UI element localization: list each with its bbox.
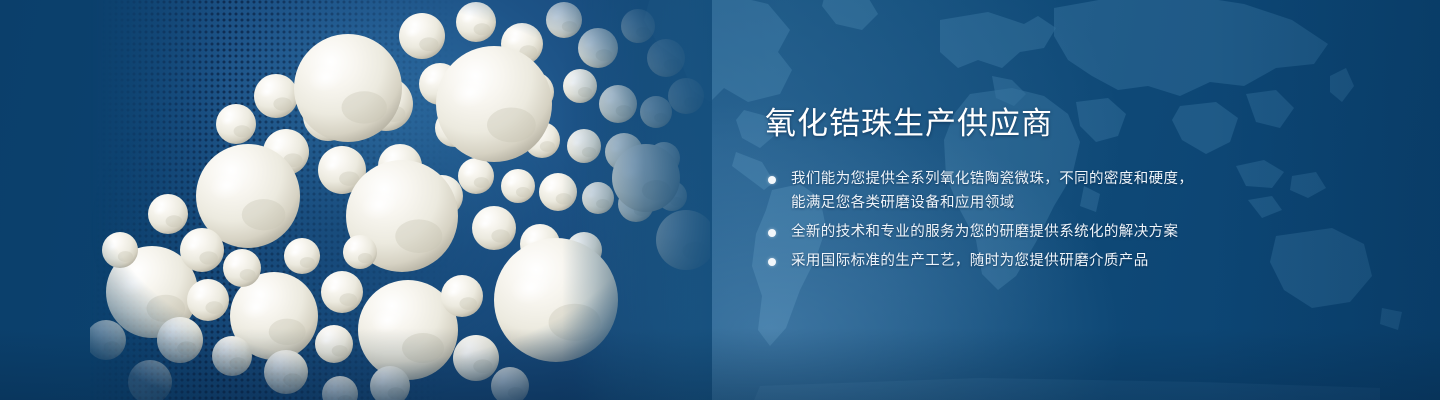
hero-banner: 氧化锆珠生产供应商 我们能为您提供全系列氧化锆陶瓷微珠，不同的密度和硬度， 能满… (0, 0, 1440, 400)
zirconia-beads-photo (90, 0, 710, 400)
list-item: 我们能为您提供全系列氧化锆陶瓷微珠，不同的密度和硬度， 能满足您各类研磨设备和应… (765, 168, 1285, 215)
bullet-dot-icon (768, 258, 776, 266)
bullet-dot-icon (768, 229, 776, 237)
bullet-dot-icon (768, 176, 776, 184)
list-item-line: 全新的技术和专业的服务为您的研磨提供系统化的解决方案 (791, 221, 1285, 244)
list-item: 全新的技术和专业的服务为您的研磨提供系统化的解决方案 (765, 221, 1285, 244)
list-item-line: 我们能为您提供全系列氧化锆陶瓷微珠，不同的密度和硬度， (791, 168, 1285, 191)
list-item-line: 能满足您各类研磨设备和应用领域 (791, 192, 1285, 215)
page-title: 氧化锆珠生产供应商 (765, 104, 1285, 144)
list-item: 采用国际标准的生产工艺，随时为您提供研磨介质产品 (765, 250, 1285, 273)
feature-list: 我们能为您提供全系列氧化锆陶瓷微珠，不同的密度和硬度， 能满足您各类研磨设备和应… (765, 168, 1285, 273)
ceramic-beads-cluster (90, 0, 710, 400)
banner-copy: 氧化锆珠生产供应商 我们能为您提供全系列氧化锆陶瓷微珠，不同的密度和硬度， 能满… (765, 104, 1285, 273)
list-item-line: 采用国际标准的生产工艺，随时为您提供研磨介质产品 (791, 250, 1285, 273)
